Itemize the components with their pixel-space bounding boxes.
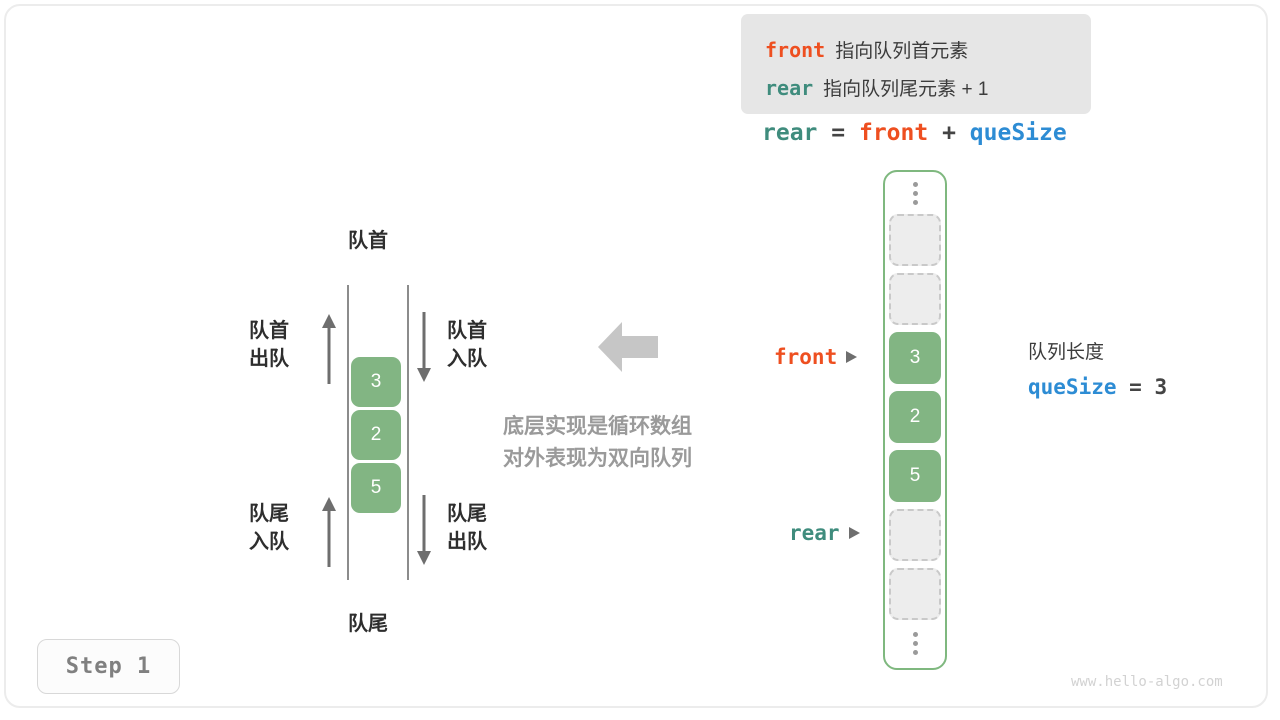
implementation-note-line1: 底层实现是循环数组 [503, 411, 692, 443]
array-cell-6 [889, 568, 941, 620]
pointer-front-label: front [774, 345, 837, 369]
step-badge: Step 1 [37, 639, 180, 694]
array-cell-0 [889, 214, 941, 266]
op-head-enqueue-line2: 入队 [447, 346, 487, 374]
op-head-dequeue-up-arrow-icon [320, 312, 338, 384]
op-head-dequeue-label: 队首 出队 [249, 318, 289, 373]
quesize-equals: = [1129, 375, 1142, 399]
pointer-rear-arrow-icon [849, 527, 860, 539]
formula-front: front [859, 120, 928, 146]
deque-cell-2: 5 [351, 463, 401, 513]
legend-box: front指向队列首元素 rear指向队列尾元素 + 1 [741, 14, 1091, 114]
deque-cell-1: 2 [351, 410, 401, 460]
diagram-canvas: front指向队列首元素 rear指向队列尾元素 + 1 rear = fron… [0, 0, 1280, 720]
op-tail-dequeue-down-arrow-icon [415, 495, 433, 567]
op-tail-dequeue-line2: 出队 [447, 529, 487, 557]
op-head-dequeue-line1: 队首 [249, 318, 289, 346]
op-head-enqueue-label: 队首 入队 [447, 318, 487, 373]
transform-arrow-icon [596, 320, 658, 374]
formula-equals: = [831, 120, 845, 146]
deque-cell-0: 3 [351, 357, 401, 407]
pointer-front: front [774, 345, 857, 369]
pointer-rear: rear [789, 521, 860, 545]
deque-rail-left [347, 285, 349, 580]
legend-line-front: front指向队列首元素 [765, 36, 968, 63]
implementation-note: 底层实现是循环数组 对外表现为双向队列 [503, 411, 692, 474]
op-head-enqueue-down-arrow-icon [415, 312, 433, 384]
formula-rear: rear [762, 120, 817, 146]
array-cell-3: 2 [889, 391, 941, 443]
legend-term-front: front [765, 38, 825, 62]
legend-text-front: 指向队列首元素 [835, 41, 968, 62]
op-tail-dequeue-label: 队尾 出队 [447, 501, 487, 556]
op-tail-enqueue-label: 队尾 入队 [249, 501, 289, 556]
op-head-enqueue-line1: 队首 [447, 318, 487, 346]
deque-rail-right [407, 285, 409, 580]
quesize-number: 3 [1154, 375, 1167, 399]
pointer-front-arrow-icon [846, 351, 857, 363]
queue-length-label: 队列长度 [1028, 337, 1104, 364]
deque-head-label: 队首 [348, 228, 388, 255]
array-top-ellipsis-icon [908, 182, 922, 205]
op-head-dequeue-line2: 出队 [249, 346, 289, 374]
legend-line-rear: rear指向队列尾元素 + 1 [765, 74, 988, 101]
implementation-note-line2: 对外表现为双向队列 [503, 443, 692, 475]
legend-term-rear: rear [765, 76, 813, 100]
formula-rear-equals-front-plus-quesize: rear = front + queSize [762, 120, 1067, 146]
queue-length-value: queSize = 3 [1028, 375, 1167, 399]
op-tail-enqueue-line2: 入队 [249, 529, 289, 557]
op-tail-dequeue-line1: 队尾 [447, 501, 487, 529]
formula-quesize: queSize [970, 120, 1067, 146]
array-bottom-ellipsis-icon [908, 632, 922, 655]
array-cell-5 [889, 509, 941, 561]
legend-text-rear: 指向队列尾元素 + 1 [823, 79, 988, 100]
array-cell-2: 3 [889, 332, 941, 384]
op-tail-enqueue-up-arrow-icon [320, 495, 338, 567]
pointer-rear-label: rear [789, 521, 840, 545]
formula-plus: + [942, 120, 956, 146]
op-tail-enqueue-line1: 队尾 [249, 501, 289, 529]
array-cell-1 [889, 273, 941, 325]
quesize-var: queSize [1028, 375, 1117, 399]
watermark: www.hello-algo.com [1071, 674, 1223, 690]
array-cell-4: 5 [889, 450, 941, 502]
deque-tail-label: 队尾 [348, 611, 388, 638]
